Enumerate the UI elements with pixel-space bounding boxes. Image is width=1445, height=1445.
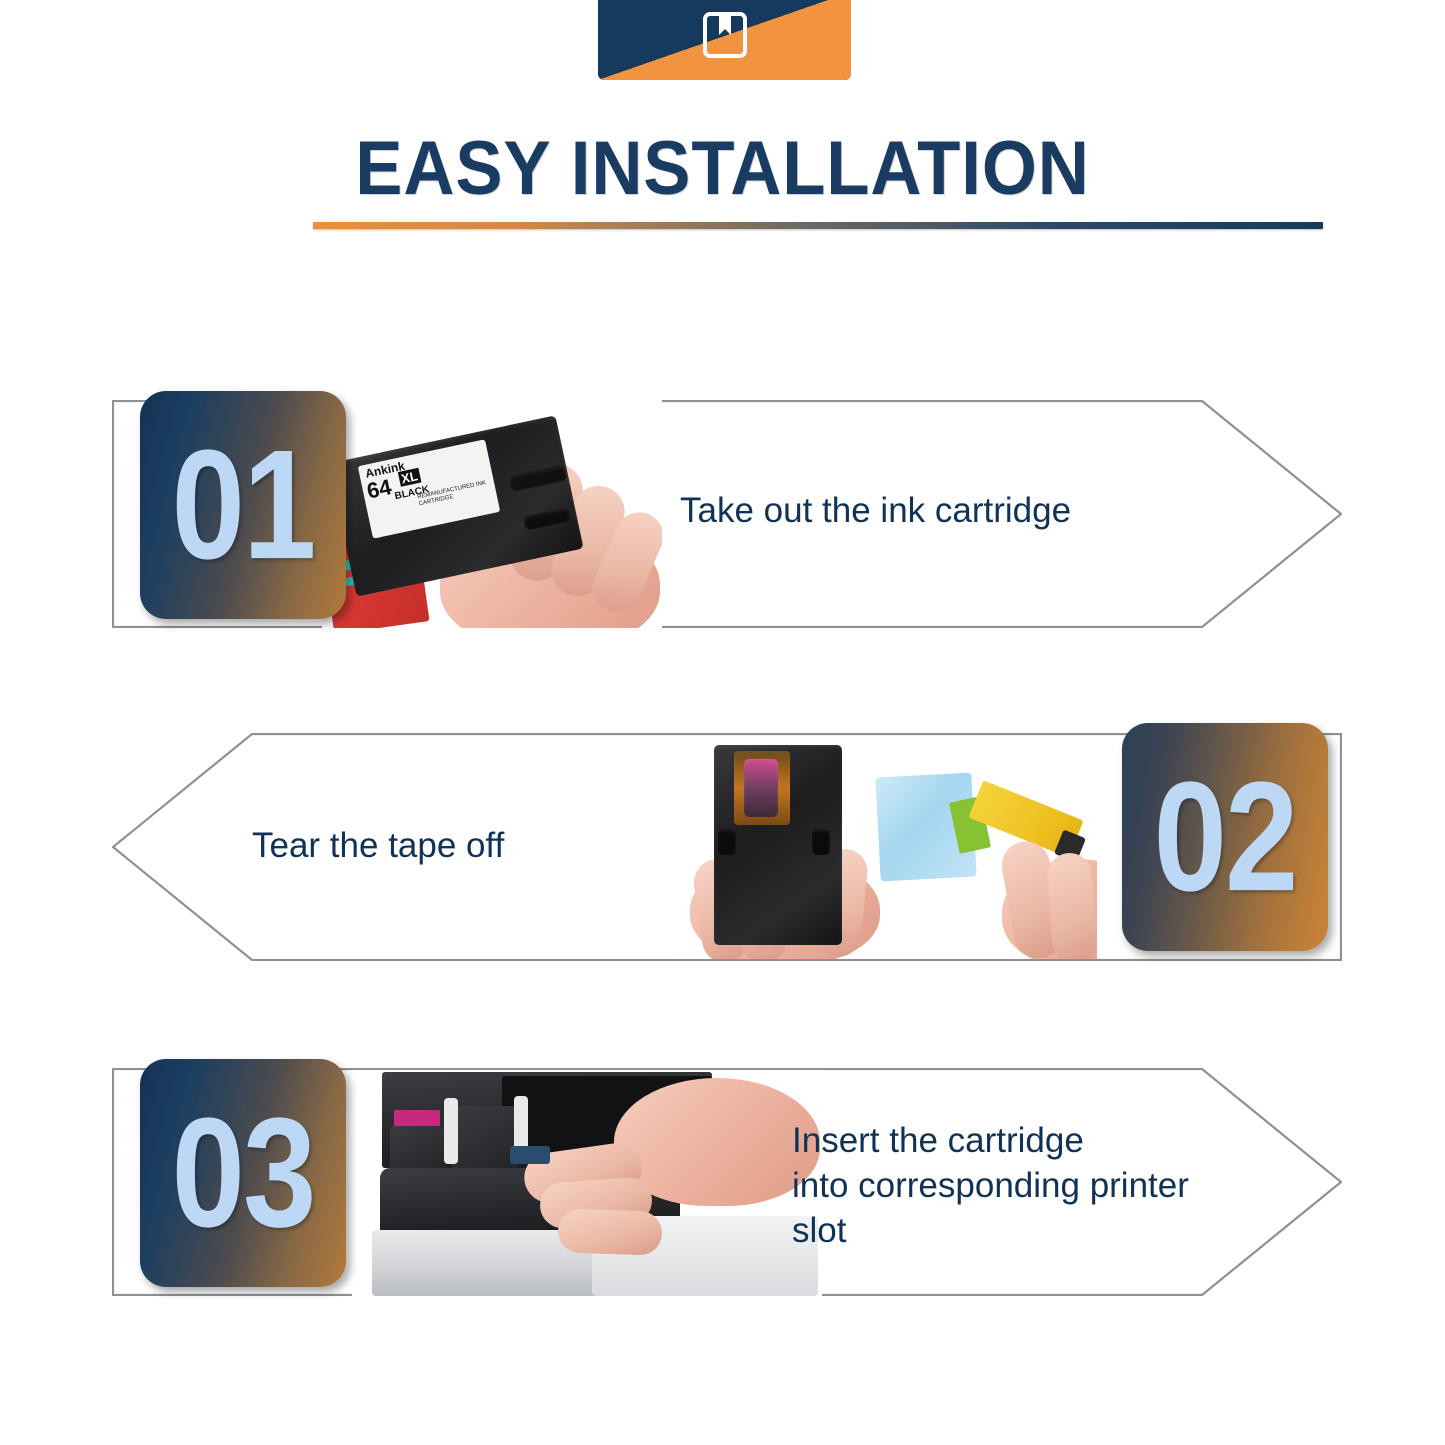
step-number-text: 01 [172,427,315,583]
step-number-badge-01: 01 [140,391,346,619]
step-caption-line: Insert the cartridge [792,1118,1292,1163]
cartridge-model: 64 [365,474,394,505]
cartridge-size: XL [398,468,421,487]
bookmark-box-icon [702,11,748,59]
step-caption-01: Take out the ink cartridge [680,488,1071,533]
step-caption-line: into corresponding printer [792,1163,1292,1208]
step-number-text: 03 [172,1095,315,1251]
step-row-01: Ankink 64 XL BLACK REMANUFACTURED INK CA… [112,400,1342,628]
step-number-badge-02: 02 [1122,723,1328,951]
page-title: EASY INSTALLATION [51,126,1395,212]
header-badge [598,0,851,80]
step-caption-02: Tear the tape off [252,823,504,868]
step-photo-take-out-cartridge: Ankink 64 XL BLACK REMANUFACTURED INK CA… [322,400,662,628]
title-underline-rule [313,222,1323,229]
step-photo-insert-cartridge [352,1070,822,1296]
step-caption-line: slot [792,1208,1292,1253]
step-photo-tear-tape [672,737,1097,959]
step-number-text: 02 [1154,759,1297,915]
step-row-02: 02 Tear the tape off [112,733,1342,961]
step-caption-03: Insert the cartridge into corresponding … [792,1118,1292,1253]
step-row-03: 03 Insert the cartridge into correspondi… [112,1068,1342,1296]
step-number-badge-03: 03 [140,1059,346,1287]
